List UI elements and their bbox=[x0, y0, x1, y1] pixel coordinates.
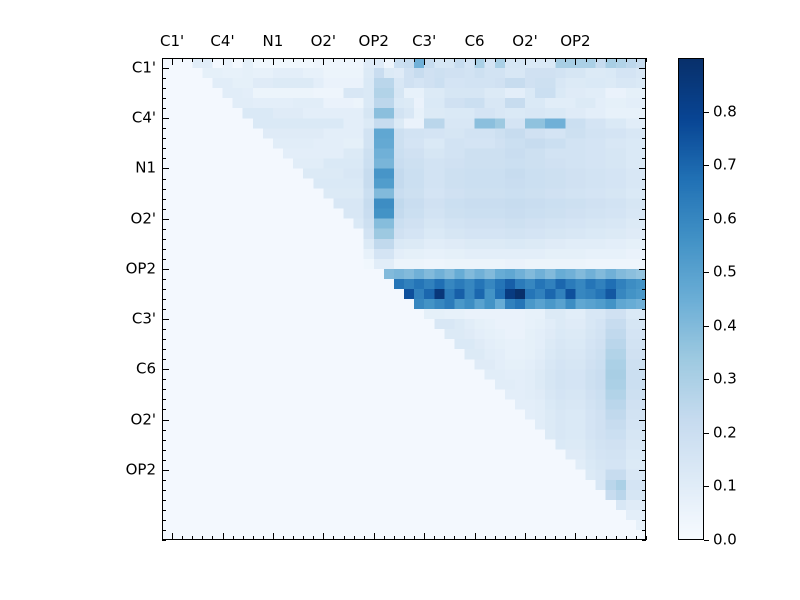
colorbar-tick-mark bbox=[704, 165, 709, 166]
colorbar-tick-label: 0.5 bbox=[713, 265, 737, 280]
colorbar-tick-mark bbox=[704, 326, 709, 327]
x-tick-label: N1 bbox=[263, 34, 284, 49]
x-tick-label: C4' bbox=[210, 34, 234, 49]
y-tick-mark bbox=[162, 540, 166, 541]
y-tick-label: O2' bbox=[131, 412, 156, 427]
x-tick-label: O2' bbox=[512, 34, 537, 49]
y-tick-label: OP2 bbox=[126, 462, 156, 477]
colorbar-tick-label: 0.2 bbox=[713, 425, 737, 440]
y-tick-label: C6 bbox=[136, 362, 156, 377]
colorbar-tick-label: 0.4 bbox=[713, 318, 737, 333]
colorbar-tick-mark bbox=[704, 540, 709, 541]
heatmap-image bbox=[162, 58, 646, 540]
x-tick-label: O2' bbox=[311, 34, 336, 49]
colorbar-tick-label: 0.8 bbox=[713, 104, 737, 119]
colorbar-gradient bbox=[678, 58, 704, 540]
y-tick-label: C4' bbox=[132, 111, 156, 126]
colorbar-tick-mark bbox=[704, 272, 709, 273]
x-tick-mark bbox=[646, 536, 647, 540]
colorbar-tick-label: 0.1 bbox=[713, 479, 737, 494]
y-tick-mark bbox=[642, 540, 646, 541]
x-tick-mark bbox=[646, 58, 647, 62]
y-tick-label: OP2 bbox=[126, 261, 156, 276]
colorbar-tick-label: 0.7 bbox=[713, 158, 737, 173]
y-tick-label: C3' bbox=[132, 312, 156, 327]
y-tick-label: C1' bbox=[132, 61, 156, 76]
x-tick-label: OP2 bbox=[359, 34, 389, 49]
x-tick-label: C6 bbox=[465, 34, 485, 49]
y-tick-label: O2' bbox=[131, 211, 156, 226]
colorbar[interactable] bbox=[678, 58, 704, 540]
x-tick-label: C1' bbox=[160, 34, 184, 49]
colorbar-tick-label: 0.3 bbox=[713, 372, 737, 387]
colorbar-tick-mark bbox=[704, 379, 709, 380]
x-tick-label: C3' bbox=[412, 34, 436, 49]
colorbar-tick-mark bbox=[704, 112, 709, 113]
colorbar-tick-mark bbox=[704, 219, 709, 220]
colorbar-tick-mark bbox=[704, 433, 709, 434]
colorbar-tick-mark bbox=[704, 486, 709, 487]
heatmap-axes[interactable] bbox=[162, 58, 646, 540]
colorbar-tick-label: 0.0 bbox=[713, 533, 737, 548]
figure-canvas: C1'C4'N1O2'OP2C3'C6O2'OP2 C1'C4'N1O2'OP2… bbox=[0, 0, 800, 600]
colorbar-tick-label: 0.6 bbox=[713, 211, 737, 226]
x-tick-label: OP2 bbox=[560, 34, 590, 49]
y-tick-label: N1 bbox=[135, 161, 156, 176]
